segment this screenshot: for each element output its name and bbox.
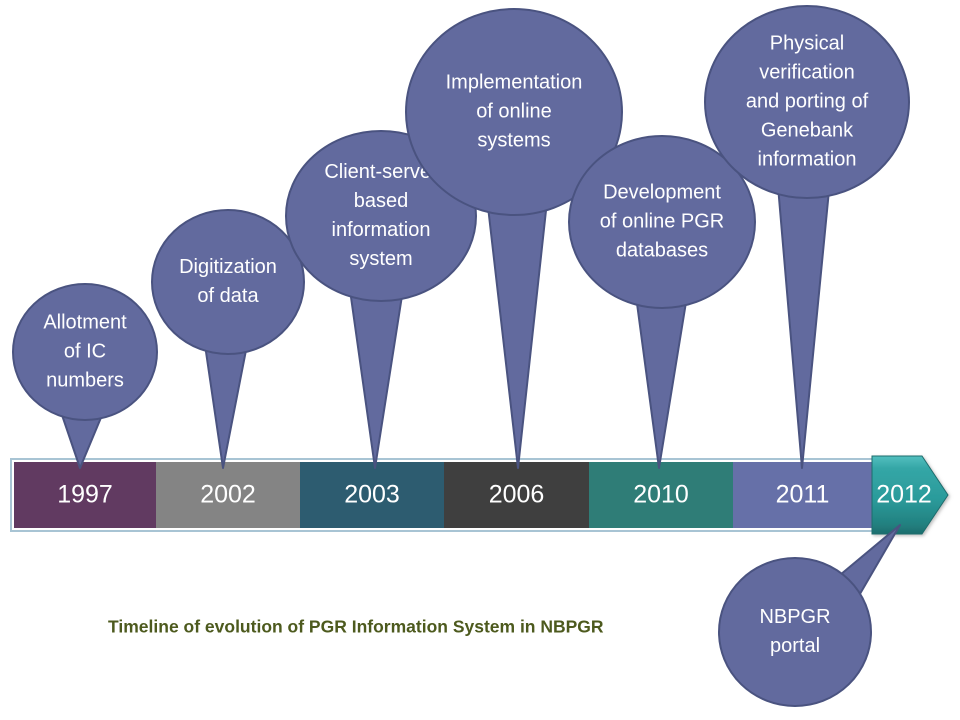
callout-text-line: Genebank <box>761 119 854 141</box>
timeline-year-label: 2002 <box>200 481 256 509</box>
callout-text-line: portal <box>770 635 820 657</box>
callout-text-line: systems <box>477 129 550 151</box>
callout-text-line: of IC <box>64 340 106 362</box>
timeline-segment-2002[interactable]: 2002 <box>156 462 300 528</box>
callout-text-line: verification <box>759 61 855 83</box>
callout-body <box>719 558 871 706</box>
callout-text-line: Development <box>603 181 721 203</box>
callout-text-line: of data <box>197 285 259 307</box>
callout-text-line: of online PGR <box>600 210 725 232</box>
diagram-caption: Timeline of evolution of PGR Information… <box>108 617 604 637</box>
callout-text-line: information <box>758 148 857 170</box>
callout-body <box>152 210 304 354</box>
callout-text-line: NBPGR <box>759 606 830 628</box>
callout-text-line: of online <box>476 100 552 122</box>
callout-text-line: system <box>349 248 412 270</box>
timeline-year-label: 2012 <box>876 481 932 509</box>
timeline-year-label: 2006 <box>489 481 545 509</box>
callout-text-line: Implementation <box>446 71 583 93</box>
timeline-segment-2003[interactable]: 2003 <box>300 462 444 528</box>
callout-text-line: Allotment <box>43 311 127 333</box>
callout-text-line: Digitization <box>179 256 277 278</box>
timeline-segment-2006[interactable]: 2006 <box>444 462 589 528</box>
timeline-year-label: 1997 <box>57 481 113 509</box>
timeline-year-label: 2010 <box>633 481 689 509</box>
timeline-year-label: 2003 <box>344 481 400 509</box>
callout-text-line: numbers <box>46 369 124 391</box>
callout-text-line: databases <box>616 239 708 261</box>
timeline-segment-1997[interactable]: 1997 <box>14 462 156 528</box>
callout-text-line: and porting of <box>746 90 869 112</box>
timeline-segment-2010[interactable]: 2010 <box>589 462 733 528</box>
timeline-year-label: 2011 <box>776 481 830 509</box>
callout-text-line: information <box>332 219 431 241</box>
timeline-bar: 1997200220032006201020112012 <box>11 456 948 534</box>
timeline-diagram: 1997200220032006201020112012 Allotmentof… <box>0 0 960 720</box>
callout-text-line: Physical <box>770 32 844 54</box>
timeline-svg-canvas: 1997200220032006201020112012 Allotmentof… <box>0 0 960 720</box>
callout-text-line: based <box>354 190 409 212</box>
timeline-segment-2011[interactable]: 2011 <box>733 462 872 528</box>
